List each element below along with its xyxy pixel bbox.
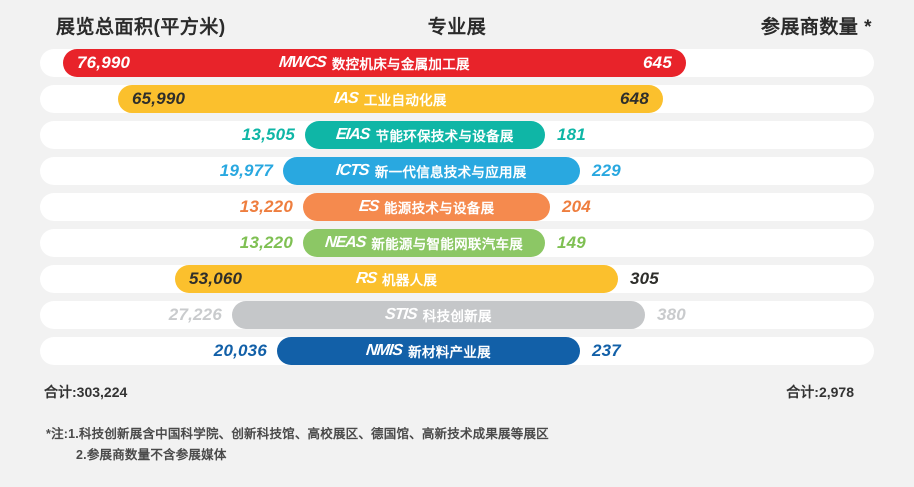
bar-label: STIS科技创新展 [232,301,645,329]
exhibition-name: 新一代信息技术与应用展 [375,161,527,181]
area-value: 65,990 [40,85,185,113]
exhibition-logo: NEAS [324,234,366,252]
exhibition-logo: RS [355,270,377,288]
bar-label: EIAS节能环保技术与设备展 [305,121,545,149]
exhibition-logo: IAS [333,90,359,108]
exhibition-name: 节能环保技术与设备展 [376,125,514,145]
exhibition-name: 能源技术与设备展 [384,197,494,217]
bar-track: IAS工业自动化展65,990648 [40,85,874,113]
footnote-2: 2.参展商数量不含参展媒体 [46,445,806,466]
bar-track: ICTS新一代信息技术与应用展19,977229 [40,157,874,185]
bar-label: ES能源技术与设备展 [303,193,550,221]
count-value: 305 [630,265,659,293]
exhibition-logo: EIAS [335,126,370,144]
exhibition-name: 工业自动化展 [364,89,447,109]
bar-label: ICTS新一代信息技术与应用展 [283,157,580,185]
bar-fill: NEAS新能源与智能网联汽车展 [303,229,545,257]
area-value: 27,226 [40,301,222,329]
total-count: 合计:2,978 [786,382,854,402]
bar-fill: EIAS节能环保技术与设备展 [305,121,545,149]
bar-track: RS机器人展53,060305 [40,265,874,293]
bar-track: ES能源技术与设备展13,220204 [40,193,874,221]
totals-row: 合计:303,224 合计:2,978 [0,382,914,404]
count-value: 204 [562,193,591,221]
exhibition-row[interactable]: EIAS节能环保技术与设备展13,505181 [0,121,914,149]
exhibition-name: 新材料产业展 [408,341,491,361]
area-value: 13,220 [40,229,293,257]
area-value: 13,505 [40,121,295,149]
footnotes: *注:1.科技创新展含中国科学院、创新科技馆、高校展区、德国馆、高新技术成果展等… [46,424,806,466]
bar-fill: STIS科技创新展 [232,301,645,329]
header-count-label: 参展商数量 * [761,12,872,39]
footnote-1: *注:1.科技创新展含中国科学院、创新科技馆、高校展区、德国馆、高新技术成果展等… [46,424,806,445]
area-value: 20,036 [40,337,267,365]
count-value: 645 [643,49,672,77]
bar-track: MWCS数控机床与金属加工展76,990645 [40,49,874,77]
bar-label: MWCS数控机床与金属加工展 [63,49,686,77]
exhibition-bar-list: MWCS数控机床与金属加工展76,990645IAS工业自动化展65,99064… [0,49,914,373]
bar-fill: MWCS数控机床与金属加工展 [63,49,686,77]
bar-label: NEAS新能源与智能网联汽车展 [303,229,545,257]
bar-track: NEAS新能源与智能网联汽车展13,220149 [40,229,874,257]
count-value: 149 [557,229,586,257]
exhibition-name: 数控机床与金属加工展 [332,53,470,73]
exhibition-logo: STIS [384,306,417,324]
bar-track: STIS科技创新展27,226380 [40,301,874,329]
infographic-sheet: 展览总面积(平方米) 专业展 参展商数量 * MWCS数控机床与金属加工展76,… [0,0,914,487]
area-value: 13,220 [40,193,293,221]
total-area: 合计:303,224 [44,382,127,402]
count-value: 181 [557,121,586,149]
bar-fill: ES能源技术与设备展 [303,193,550,221]
exhibition-row[interactable]: NMIS新材料产业展20,036237 [0,337,914,365]
count-value: 237 [592,337,621,365]
exhibition-row[interactable]: IAS工业自动化展65,990648 [0,85,914,113]
count-value: 648 [620,85,649,113]
area-value: 19,977 [40,157,273,185]
bar-fill: ICTS新一代信息技术与应用展 [283,157,580,185]
exhibition-name: 新能源与智能网联汽车展 [371,233,523,253]
exhibition-logo: NMIS [365,342,403,360]
bar-fill: IAS工业自动化展 [118,85,663,113]
column-header: 展览总面积(平方米) 专业展 参展商数量 * [0,12,914,46]
exhibition-logo: ES [358,198,379,216]
bar-label: IAS工业自动化展 [118,85,663,113]
exhibition-row[interactable]: MWCS数控机床与金属加工展76,990645 [0,49,914,77]
exhibition-row[interactable]: STIS科技创新展27,226380 [0,301,914,329]
exhibition-row[interactable]: ICTS新一代信息技术与应用展19,977229 [0,157,914,185]
area-value: 53,060 [40,265,242,293]
exhibition-logo: ICTS [335,162,369,180]
count-value: 380 [657,301,686,329]
exhibition-name: 科技创新展 [423,305,492,325]
exhibition-row[interactable]: ES能源技术与设备展13,220204 [0,193,914,221]
exhibition-row[interactable]: NEAS新能源与智能网联汽车展13,220149 [0,229,914,257]
exhibition-name: 机器人展 [382,269,437,289]
bar-fill: NMIS新材料产业展 [277,337,580,365]
area-value: 76,990 [40,49,130,77]
bar-track: NMIS新材料产业展20,036237 [40,337,874,365]
bar-track: EIAS节能环保技术与设备展13,505181 [40,121,874,149]
count-value: 229 [592,157,621,185]
bar-label: NMIS新材料产业展 [277,337,580,365]
exhibition-logo: MWCS [278,54,327,72]
exhibition-row[interactable]: RS机器人展53,060305 [0,265,914,293]
